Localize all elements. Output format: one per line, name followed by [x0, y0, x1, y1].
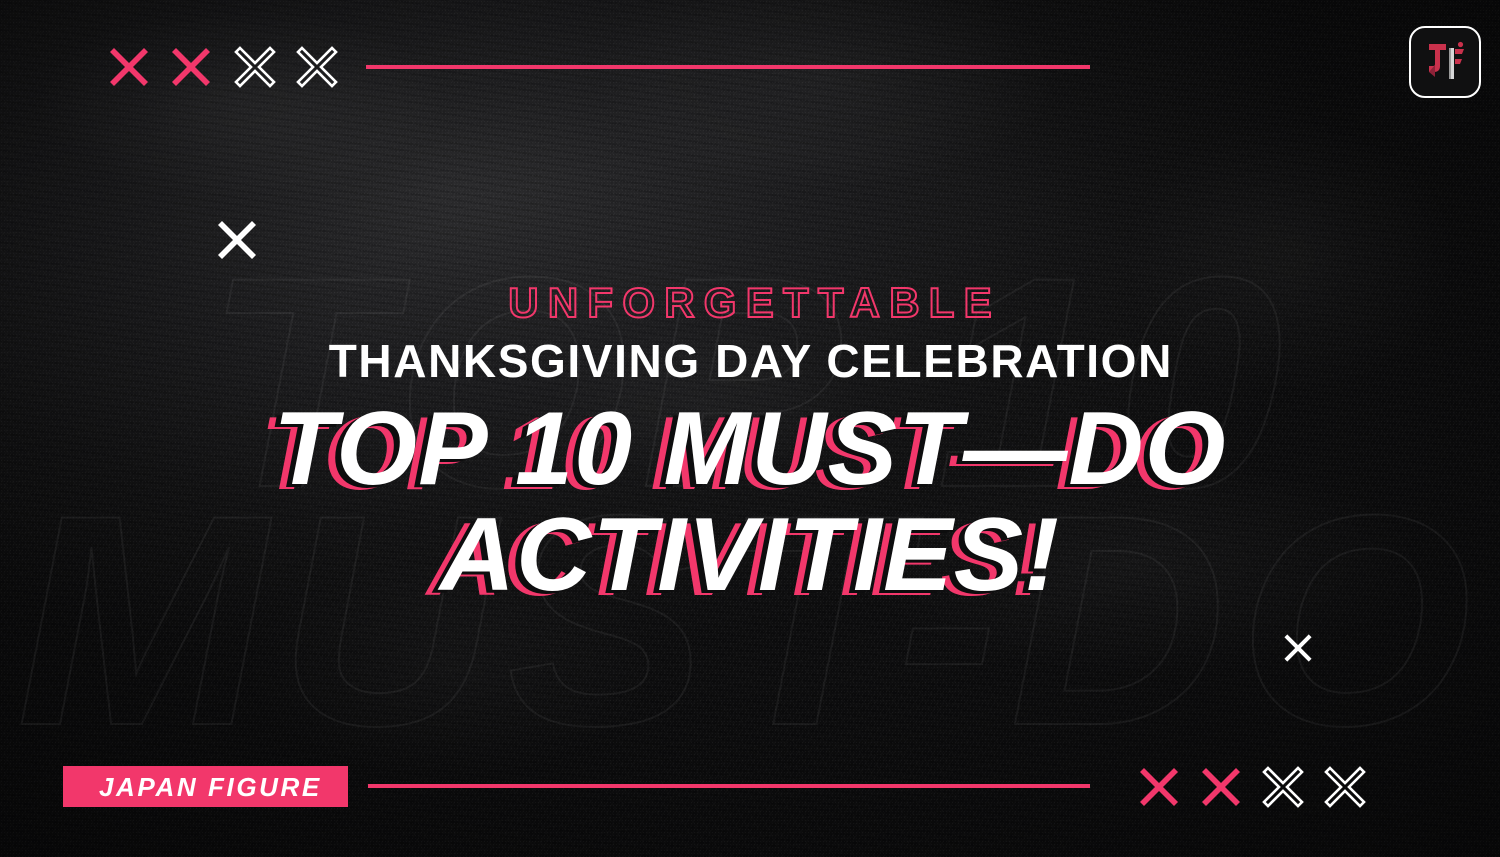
- eyebrow-text: UNFORGETTABLE: [0, 282, 1500, 324]
- x-mark-outline-white-1: [234, 46, 276, 88]
- x-mark-solid-pink-3: [1138, 766, 1180, 808]
- x-mark-solid-pink-1: [108, 46, 150, 88]
- x-mark-outline-white-2: [296, 46, 338, 88]
- x-mark-solid-white-small: [1283, 633, 1313, 663]
- japan-figure-logo[interactable]: [1409, 26, 1481, 98]
- x-mark-solid-pink-4: [1200, 766, 1242, 808]
- headline-block: UNFORGETTABLE THANKSGIVING DAY CELEBRATI…: [0, 282, 1500, 608]
- headline-title: TOP 10 MUST—DO TOP 10 MUST—DO TOP 10 MUS…: [0, 396, 1500, 608]
- headline-line-2: ACTIVITIES! ACTIVITIES! ACTIVITIES!: [0, 502, 1500, 608]
- brand-badge[interactable]: JAPAN FIGURE: [63, 766, 348, 807]
- x-mark-outline-white-4: [1324, 766, 1366, 808]
- subhead-text: THANKSGIVING DAY CELEBRATION: [0, 338, 1500, 384]
- x-mark-solid-pink-2: [170, 46, 212, 88]
- headline-line-1: TOP 10 MUST—DO TOP 10 MUST—DO TOP 10 MUS…: [0, 396, 1500, 502]
- x-mark-solid-white-large: [216, 219, 258, 261]
- brand-badge-label: JAPAN FIGURE: [99, 774, 322, 800]
- headline-line-1-main: TOP 10 MUST—DO: [273, 391, 1227, 507]
- top-accent-rule: [366, 65, 1090, 69]
- bottom-accent-rule: [368, 784, 1090, 788]
- promo-banner: TOP 10 MUST-DO: [0, 0, 1500, 857]
- headline-line-2-main: ACTIVITIES!: [440, 497, 1060, 613]
- x-mark-outline-white-3: [1262, 766, 1304, 808]
- jf-monogram-icon: [1422, 39, 1468, 85]
